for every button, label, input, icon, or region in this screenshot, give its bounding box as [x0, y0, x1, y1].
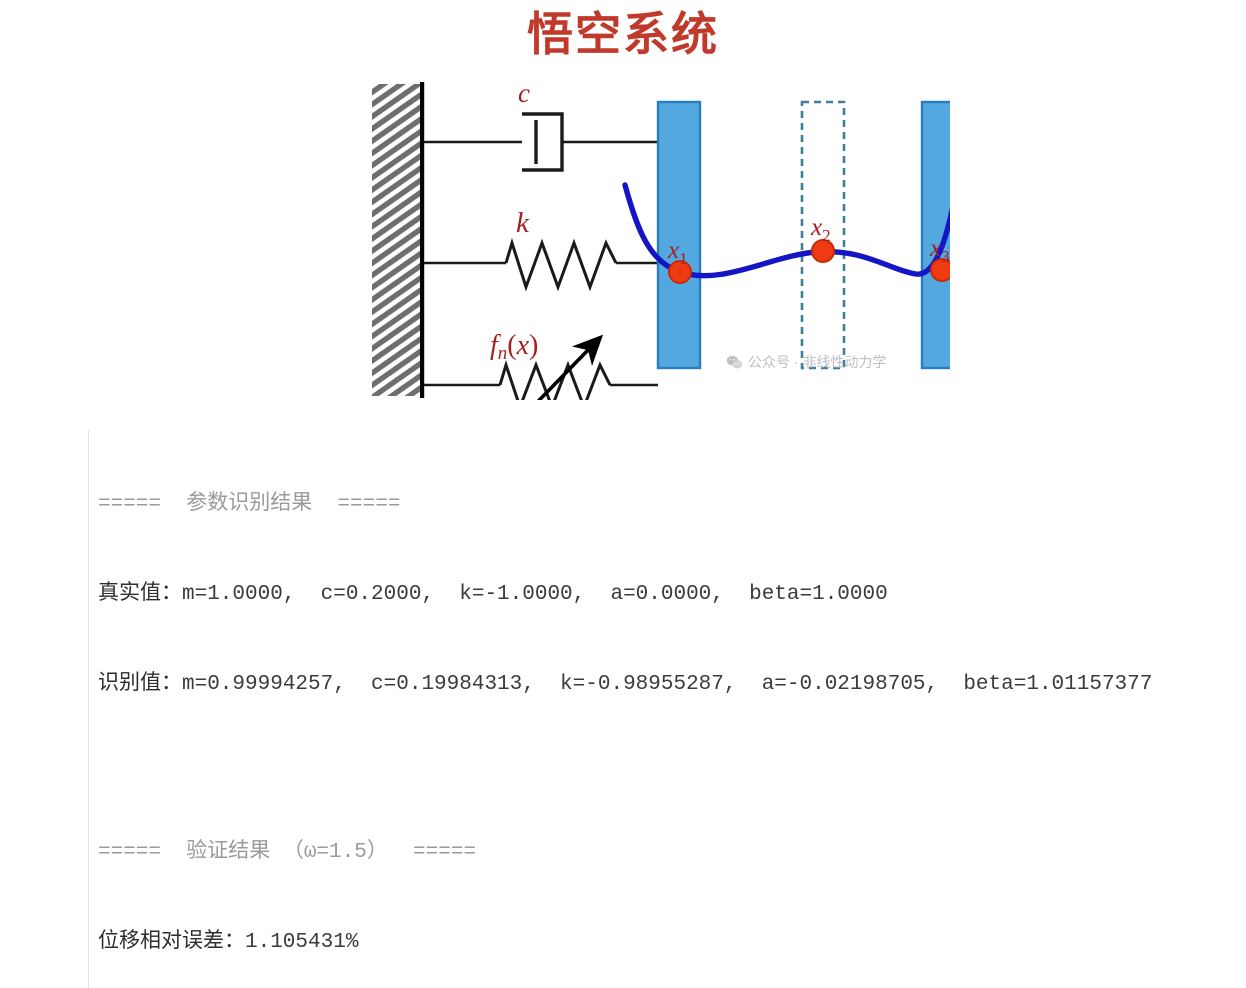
node-x2: x2	[810, 214, 834, 262]
error-label: 位移相对误差：	[98, 931, 245, 954]
damper-element: c	[424, 80, 658, 170]
error-value: 1.105431%	[245, 931, 358, 954]
system-schematic-diagram: c k fn(x)	[350, 80, 950, 400]
true-values-text: m=1.0000, c=0.2000, k=-1.0000, a=0.0000,…	[182, 583, 888, 606]
page-title: 悟空系统	[0, 6, 1246, 64]
validation-header: ===== 验证结果 （ω=1.5） =====	[98, 838, 1246, 868]
linear-spring-label: k	[516, 207, 530, 239]
node-x2-label: x2	[810, 214, 831, 245]
mass-block-1	[658, 102, 700, 368]
error-row: 位移相对误差：1.105431%	[98, 928, 1246, 958]
damper-label: c	[518, 80, 530, 108]
nonlinear-spring-label: fn(x)	[490, 330, 538, 364]
linear-spring-element: k	[424, 207, 658, 287]
true-values-row: 真实值：m=1.0000, c=0.2000, k=-1.0000, a=0.0…	[98, 580, 1246, 610]
nonlinear-spring-element: fn(x)	[424, 330, 658, 400]
identified-values-label: 识别值：	[98, 673, 182, 696]
identified-values-text: m=0.99994257, c=0.19984313, k=-0.9895528…	[182, 673, 1152, 696]
fixed-wall	[372, 82, 424, 398]
results-console: ===== 参数识别结果 ===== 真实值：m=1.0000, c=0.200…	[88, 430, 1246, 988]
identification-header: ===== 参数识别结果 =====	[98, 490, 1246, 520]
true-values-label: 真实值：	[98, 583, 182, 606]
identified-values-row: 识别值：m=0.99994257, c=0.19984313, k=-0.989…	[98, 670, 1246, 700]
spacer-line	[98, 760, 1246, 778]
